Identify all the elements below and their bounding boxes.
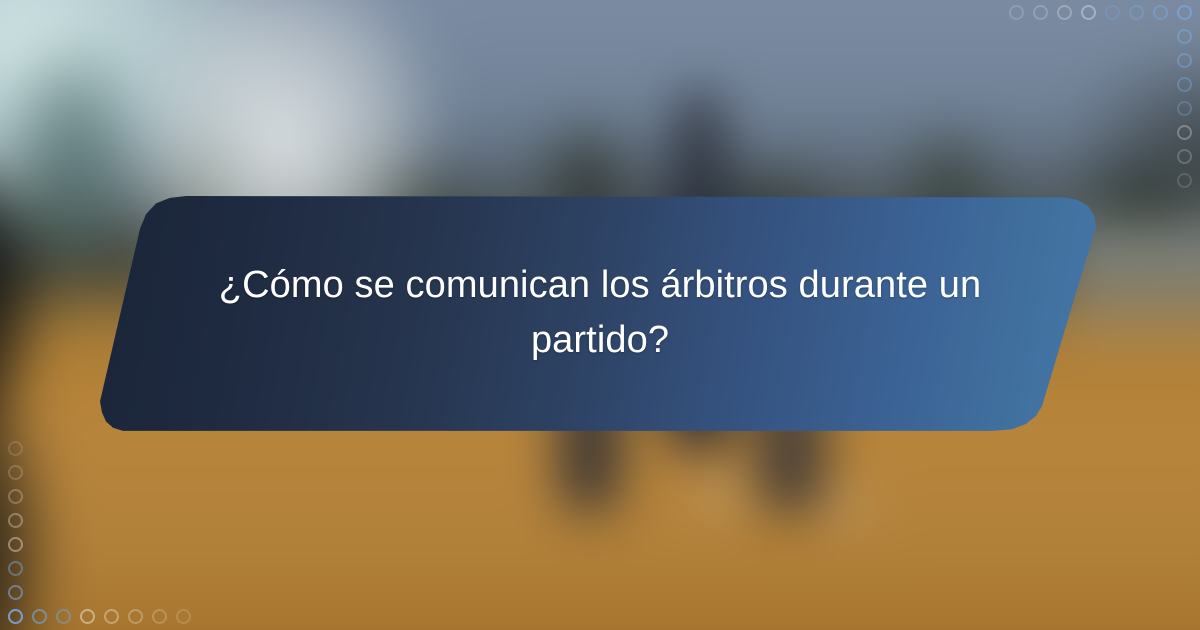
decor-dot: [176, 609, 191, 624]
decor-dot: [8, 441, 23, 456]
background-shoe-left: [699, 480, 741, 510]
decor-dot: [104, 609, 119, 624]
decor-dots-bottom-left: [8, 609, 191, 624]
decor-dot: [56, 609, 71, 624]
decor-dot: [1177, 53, 1192, 68]
decor-dot: [1177, 173, 1192, 188]
decor-dot: [1081, 5, 1096, 20]
decor-dot: [8, 465, 23, 480]
decor-dot: [8, 585, 23, 600]
decor-dot: [1153, 5, 1168, 20]
decor-dot: [1177, 77, 1192, 92]
decor-dot: [8, 609, 23, 624]
decor-dot: [1177, 125, 1192, 140]
decor-dot: [1177, 101, 1192, 116]
decor-dot: [1033, 5, 1048, 20]
decor-dot: [8, 489, 23, 504]
decor-dot: [1177, 5, 1192, 20]
background-shoe-right: [824, 495, 866, 522]
decor-dot: [152, 609, 167, 624]
decor-dot: [1177, 149, 1192, 164]
decor-dot: [1129, 5, 1144, 20]
question-title: ¿Cómo se comunican los árbitros durante …: [180, 258, 1020, 372]
decor-dot: [8, 561, 23, 576]
slide-canvas: ¿Cómo se comunican los árbitros durante …: [0, 0, 1200, 630]
decor-dot: [32, 609, 47, 624]
decor-dot: [8, 537, 23, 552]
decor-dots-left-column: [8, 441, 23, 624]
decor-dot: [128, 609, 143, 624]
decor-dots-right-column: [1177, 5, 1192, 188]
decor-dot: [8, 513, 23, 528]
decor-dot: [1009, 5, 1024, 20]
question-card: ¿Cómo se comunican los árbitros durante …: [100, 195, 1100, 435]
decor-dot: [80, 609, 95, 624]
decor-dot: [1057, 5, 1072, 20]
decor-dots-top-right: [1009, 5, 1192, 20]
decor-dot: [1105, 5, 1120, 20]
decor-dot: [1177, 29, 1192, 44]
